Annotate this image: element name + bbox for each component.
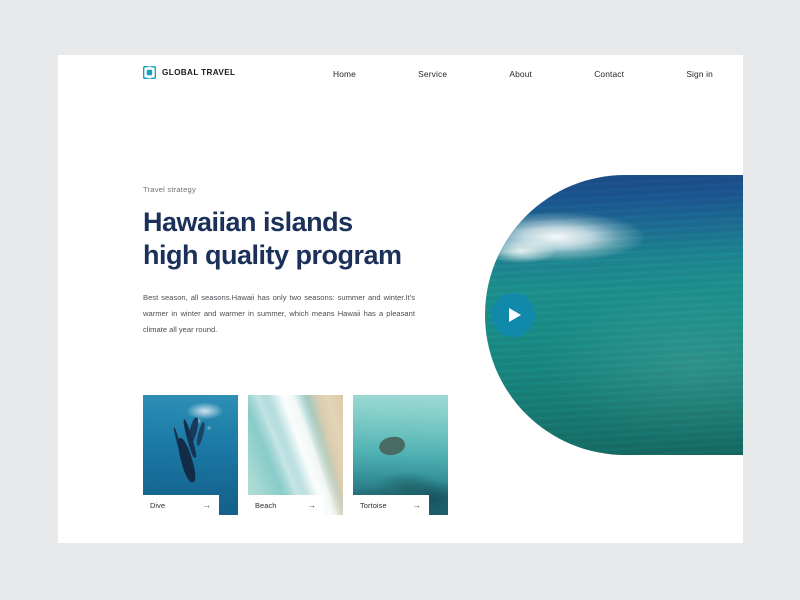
thumb-card-tortoise[interactable]: Tortoise → [353, 395, 448, 515]
nav-item-service[interactable]: Service [418, 69, 447, 79]
hero-paragraph: Best season, all seasons.Hawaii has only… [143, 290, 415, 337]
page-card: GLOBAL TRAVEL Home Service About Contact… [58, 55, 743, 543]
play-icon [509, 308, 521, 322]
hero-copy: Travel strategy Hawaiian islands high qu… [143, 185, 443, 338]
hero-headline: Hawaiian islands high quality program [143, 206, 443, 271]
site-header: GLOBAL TRAVEL Home Service About Contact… [58, 55, 743, 100]
arrow-right-icon[interactable]: → [307, 501, 316, 510]
thumb-label-dive: Dive → [143, 495, 219, 515]
brand-name: GLOBAL TRAVEL [162, 68, 235, 77]
main-nav: Home Service About Contact Sign in [333, 69, 713, 79]
play-video-button[interactable] [491, 293, 535, 337]
thumb-label-text: Beach [255, 501, 276, 510]
logo-mark-icon [143, 66, 156, 79]
nav-item-sign-in[interactable]: Sign in [686, 69, 713, 79]
arrow-right-icon[interactable]: → [202, 501, 211, 510]
hero-eyebrow: Travel strategy [143, 185, 443, 194]
thumb-card-beach[interactable]: Beach → [248, 395, 343, 515]
thumb-label-text: Dive [150, 501, 165, 510]
nav-item-home[interactable]: Home [333, 69, 356, 79]
thumb-label-tortoise: Tortoise → [353, 495, 429, 515]
thumb-label-text: Tortoise [360, 501, 387, 510]
nav-item-contact[interactable]: Contact [594, 69, 624, 79]
viewport: GLOBAL TRAVEL Home Service About Contact… [0, 0, 800, 600]
brand-logo[interactable]: GLOBAL TRAVEL [143, 66, 235, 79]
thumbnail-row: Dive → Beach → Tortoise → [143, 395, 448, 515]
thumb-card-dive[interactable]: Dive → [143, 395, 238, 515]
thumb-label-beach: Beach → [248, 495, 324, 515]
arrow-right-icon[interactable]: → [412, 501, 421, 510]
nav-item-about[interactable]: About [509, 69, 532, 79]
